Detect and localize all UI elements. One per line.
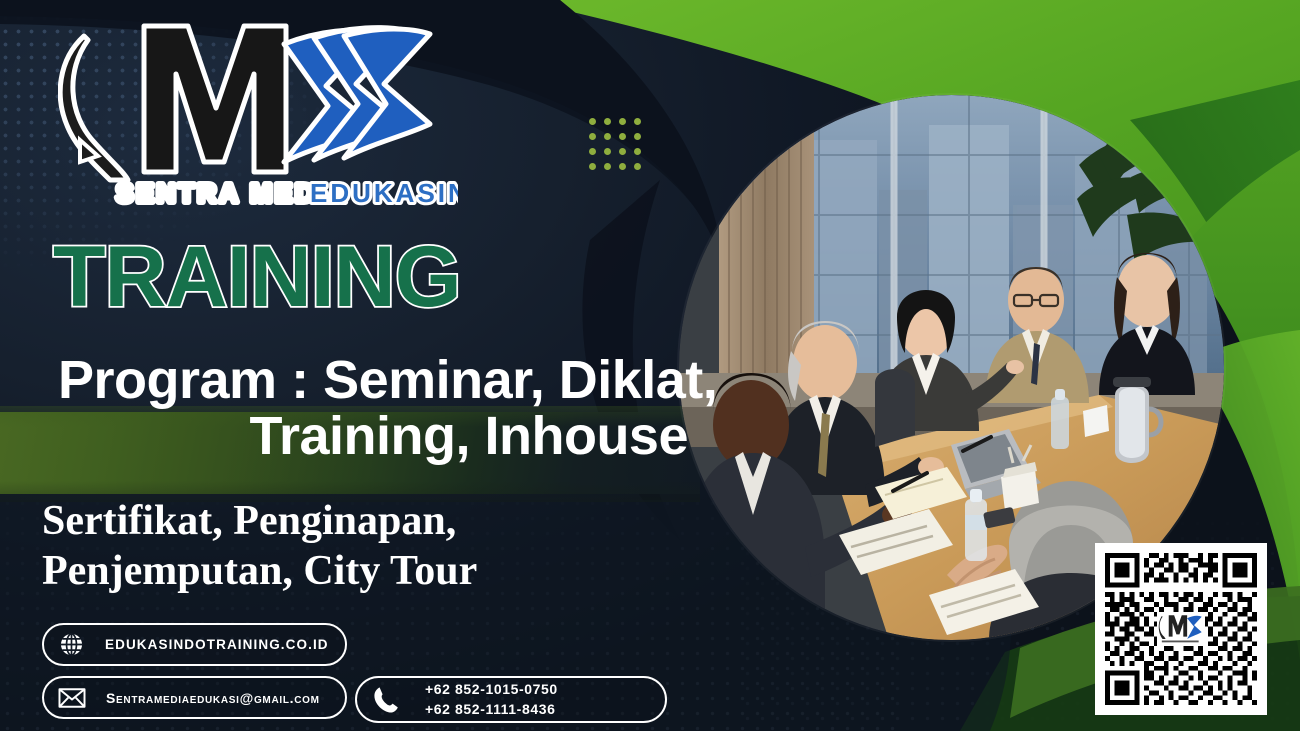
phone-number-2: +62 852-1111-8436 [425, 700, 558, 719]
globe-icon [58, 631, 85, 658]
page-title: TRAINING [53, 234, 461, 320]
phone-numbers: +62 852-1015-0750 +62 852-1111-8436 [425, 680, 558, 719]
program-line-2: Training, Inhouse [58, 408, 688, 464]
grid-dot [589, 118, 596, 125]
grid-dot [619, 133, 626, 140]
program-items-line2: Training, Inhouse [249, 406, 688, 466]
envelope-icon [58, 687, 86, 709]
website-text: EDUKASINDOTRAINING.CO.ID [105, 637, 329, 652]
dot-grid-decoration [589, 118, 649, 178]
svg-text:EDUKASINDO: EDUKASINDO [310, 178, 458, 208]
training-promo-banner: SENTRA MEDIA SENTRA MEDIA EDUKASINDO EDU… [0, 0, 1300, 731]
grid-dot [589, 148, 596, 155]
grid-dot [619, 118, 626, 125]
services-list: Sertifikat, Penginapan, Penjemputan, Cit… [42, 497, 682, 596]
qr-center-logo [1157, 612, 1205, 646]
services-line-1: Sertifikat, Penginapan, [42, 497, 682, 547]
grid-dot [634, 133, 641, 140]
grid-dot [604, 133, 611, 140]
grid-dot [604, 118, 611, 125]
grid-dot [634, 163, 641, 170]
program-line-1: Program : Seminar, Diklat, [58, 352, 688, 408]
company-logo-mark: SENTRA MEDIA SENTRA MEDIA EDUKASINDO EDU… [58, 22, 458, 210]
company-logo: SENTRA MEDIA SENTRA MEDIA EDUKASINDO EDU… [58, 22, 458, 210]
qr-code[interactable] [1095, 543, 1267, 715]
phone-contact-pill[interactable]: +62 852-1015-0750 +62 852-1111-8436 [355, 676, 667, 723]
phone-icon [373, 686, 399, 714]
services-line-2: Penjemputan, City Tour [42, 547, 682, 597]
phone-number-1: +62 852-1015-0750 [425, 680, 558, 699]
grid-dot [634, 118, 641, 125]
program-items-line1: Seminar, Diklat, [323, 350, 717, 410]
grid-dot [604, 148, 611, 155]
grid-dot [604, 163, 611, 170]
grid-dot [589, 163, 596, 170]
program-block: Program : Seminar, Diklat, Training, Inh… [58, 352, 688, 464]
qr-center-logo-mark [1158, 613, 1204, 645]
grid-dot [634, 148, 641, 155]
program-label: Program : [58, 350, 309, 410]
grid-dot [619, 163, 626, 170]
email-text: Sentramediaedukasi@gmail.com [106, 690, 320, 706]
website-contact-pill[interactable]: EDUKASINDOTRAINING.CO.ID [42, 623, 347, 666]
email-contact-pill[interactable]: Sentramediaedukasi@gmail.com [42, 676, 347, 719]
grid-dot [589, 133, 596, 140]
grid-dot [619, 148, 626, 155]
